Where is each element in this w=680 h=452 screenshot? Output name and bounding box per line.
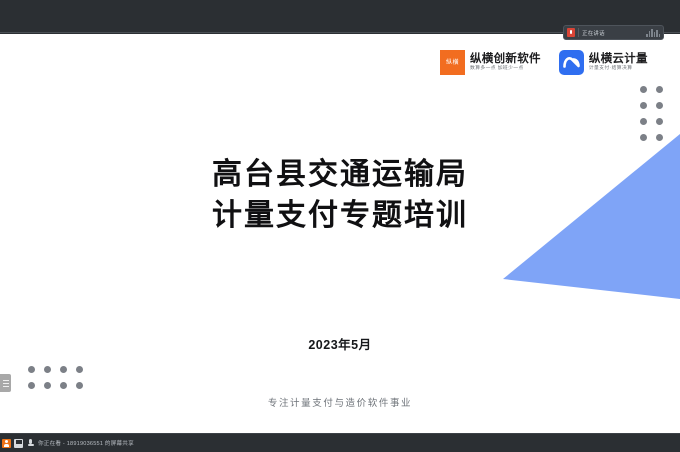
brand-title: 纵横创新软件	[470, 53, 541, 65]
brand-mark-text: 纵横	[446, 60, 459, 66]
microphone-active-icon	[567, 28, 575, 37]
page-title-line-2: 计量支付专题培训	[0, 195, 680, 236]
edge-toolbar-handle[interactable]	[0, 374, 11, 392]
slide-date: 2023年5月	[0, 334, 680, 353]
zongheng-square-logo-icon: 纵横	[440, 50, 465, 75]
audio-wave-icon	[646, 29, 660, 37]
screen-share-icon[interactable]	[14, 439, 23, 448]
participant-icon[interactable]	[2, 439, 11, 448]
speaking-indicator-label: 正在讲话	[582, 29, 646, 37]
page-title: 高台县交通运输局 计量支付专题培训	[0, 154, 680, 237]
brand-title: 纵横云计量	[589, 53, 648, 65]
divider	[578, 28, 579, 37]
status-bar-label: 你正在看 - 18919036551 的屏幕共享	[38, 439, 134, 447]
presentation-slide: 纵横 纵横创新软件 数算多一点 加班少一点 纵横云计量 计量支付·结算决算	[0, 34, 680, 433]
slide-tagline: 专注计量支付与造价软件事业	[0, 395, 680, 409]
dot-grid-bottom-left	[28, 366, 83, 389]
brand-subtitle: 数算多一点 加班少一点	[470, 66, 541, 71]
brand-logo-row: 纵横 纵横创新软件 数算多一点 加班少一点 纵横云计量 计量支付·结算决算	[440, 50, 648, 75]
dot-grid-top-right	[640, 86, 663, 141]
page-title-line-1: 高台县交通运输局	[0, 154, 680, 195]
brand-subtitle: 计量支付·结算决算	[589, 66, 648, 71]
speaking-indicator-pill[interactable]: 正在讲话	[563, 25, 664, 40]
zongheng-cloud-wave-logo-icon	[559, 50, 584, 75]
status-bar: 你正在看 - 18919036551 的屏幕共享	[0, 433, 680, 452]
brand-zongheng-software: 纵横 纵横创新软件 数算多一点 加班少一点	[440, 50, 541, 75]
screen-share-window: 正在讲话	[0, 0, 680, 452]
brand-zongheng-cloud: 纵横云计量 计量支付·结算决算	[559, 50, 648, 75]
microphone-icon[interactable]	[26, 439, 35, 448]
